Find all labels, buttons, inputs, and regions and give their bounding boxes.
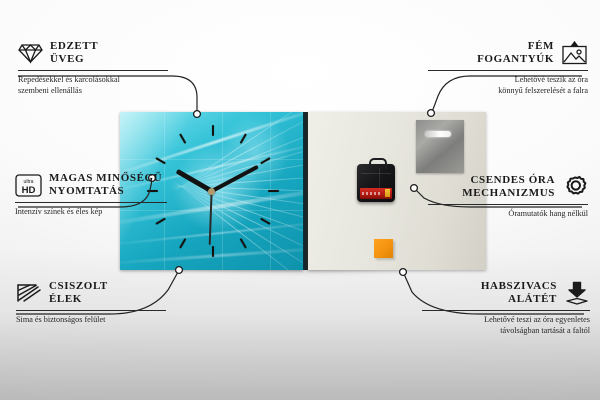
feature-title: CSENDES ÓRA MECHANIZMUS	[462, 174, 555, 200]
feature-description-line1: Lehetővé teszik az óra	[398, 75, 588, 86]
hour-tick	[239, 238, 246, 249]
feature-polished-edges[interactable]: CSISZOLT ÉLEK Sima és biztonságos felüle…	[16, 280, 196, 326]
feature-description-line1: Intenzív színek és éles kép	[15, 207, 195, 218]
gear-icon	[562, 175, 588, 200]
mechanism-loop	[369, 158, 387, 169]
infographic-canvas: EDZETT ÜVEG Repedésekkel és karcolásokka…	[0, 0, 600, 400]
hour-tick	[212, 246, 214, 257]
divider	[428, 70, 588, 71]
ultra-hd-icon: ultra HD	[15, 174, 42, 197]
feature-description-line2: szembeni ellenállás	[18, 86, 193, 97]
hour-tick	[179, 238, 186, 249]
feature-description-line1: Lehetővé teszi az óra egyenletes	[390, 315, 590, 326]
feature-header: EDZETT ÜVEG	[18, 40, 193, 66]
foam-pad	[374, 239, 393, 258]
hour-tick	[268, 190, 279, 192]
feature-title: CSISZOLT ÉLEK	[49, 280, 108, 306]
feature-header: HABSZIVACS ALÁTÉT	[390, 280, 590, 306]
feature-header: CSENDES ÓRA MECHANIZMUS	[398, 174, 588, 200]
battery	[360, 188, 392, 199]
foam-pad-icon	[564, 281, 590, 306]
mechanism-seam	[379, 168, 380, 188]
divider	[15, 202, 167, 203]
feature-header: CSISZOLT ÉLEK	[16, 280, 196, 306]
hour-tick	[212, 125, 214, 136]
feature-foam-pad[interactable]: HABSZIVACS ALÁTÉT Lehetővé teszi az óra …	[390, 280, 590, 336]
feature-description-line2: távolságban tartását a faltól	[390, 326, 590, 337]
picture-hanger-icon	[561, 41, 588, 65]
divider	[18, 70, 168, 71]
metal-hanger	[416, 120, 464, 173]
polished-edge-icon	[16, 282, 42, 304]
hour-tick	[155, 218, 166, 225]
feature-silent-mechanism[interactable]: CSENDES ÓRA MECHANIZMUS Óramutatók hang …	[398, 174, 588, 220]
mechanism-seam	[361, 173, 391, 174]
feature-header: ultra HD MAGAS MINŐSÉGŰ NYOMTATÁS	[15, 172, 195, 198]
hour-tick	[260, 218, 271, 225]
feature-tempered-glass[interactable]: EDZETT ÜVEG Repedésekkel és karcolásokka…	[18, 40, 193, 96]
minute-hand	[211, 165, 259, 193]
second-hand	[209, 191, 212, 245]
hour-tick	[179, 133, 186, 144]
feature-header: FÉM FOGANTYÚK	[398, 40, 588, 66]
diamond-icon	[18, 42, 43, 64]
feature-description-line2: könnyű felszerelését a falra	[398, 86, 588, 97]
feature-description-line1: Sima és biztonságos felület	[16, 315, 196, 326]
clock-mechanism	[357, 164, 395, 202]
feature-title: HABSZIVACS ALÁTÉT	[481, 280, 557, 306]
hour-tick	[260, 157, 271, 164]
clock-hub	[208, 188, 215, 195]
feature-metal-handles[interactable]: FÉM FOGANTYÚK Lehetővé teszik az óra kön…	[398, 40, 588, 96]
feature-title: MAGAS MINŐSÉGŰ NYOMTATÁS	[49, 172, 162, 198]
feature-title: EDZETT ÜVEG	[50, 40, 98, 66]
svg-text:HD: HD	[22, 185, 36, 196]
hour-tick	[155, 157, 166, 164]
feature-high-quality-print[interactable]: ultra HD MAGAS MINŐSÉGŰ NYOMTATÁS Intenz…	[15, 172, 195, 218]
divider	[428, 204, 588, 205]
feature-description-line1: Repedésekkel és karcolásokkal	[18, 75, 193, 86]
feature-description-line1: Óramutatók hang nélkül	[398, 209, 588, 220]
feature-title: FÉM FOGANTYÚK	[477, 40, 554, 66]
divider	[16, 310, 166, 311]
hour-tick	[239, 133, 246, 144]
divider	[422, 310, 590, 311]
